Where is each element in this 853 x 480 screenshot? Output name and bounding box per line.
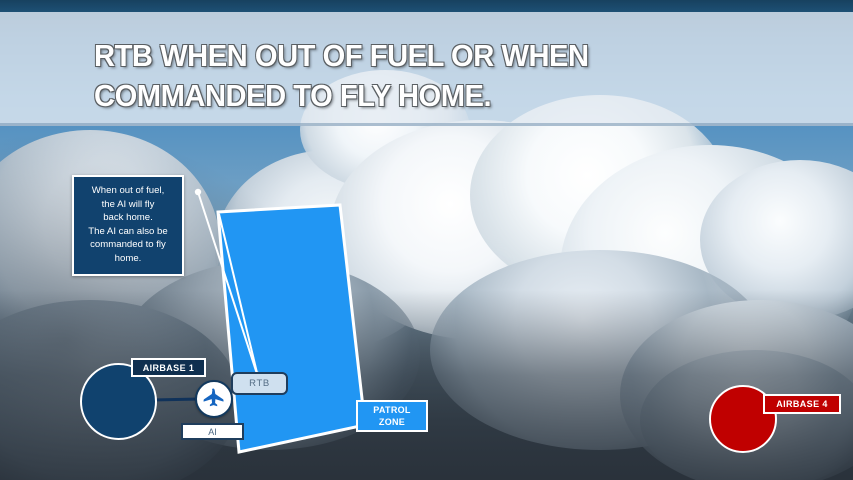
page-title: RTB WHEN OUT OF FUEL OR WHEN COMMANDED T… (94, 36, 752, 115)
patrol-zone-label[interactable]: PATROL ZONE (356, 400, 428, 432)
airbase-4-label[interactable]: AIRBASE 4 (763, 394, 841, 414)
rtb-label[interactable]: RTB (231, 372, 288, 395)
fighter-jet-icon (201, 386, 227, 412)
ai-aircraft-node[interactable] (195, 380, 233, 418)
top-accent-strip (0, 0, 853, 12)
ai-label[interactable]: AI (181, 423, 244, 440)
airbase-1-label[interactable]: AIRBASE 1 (131, 358, 206, 377)
title-banner: RTB WHEN OUT OF FUEL OR WHEN COMMANDED T… (0, 12, 853, 126)
slide-canvas: RTB WHEN OUT OF FUEL OR WHEN COMMANDED T… (0, 0, 853, 480)
explanation-callout: When out of fuel, the AI will fly back h… (72, 175, 184, 276)
